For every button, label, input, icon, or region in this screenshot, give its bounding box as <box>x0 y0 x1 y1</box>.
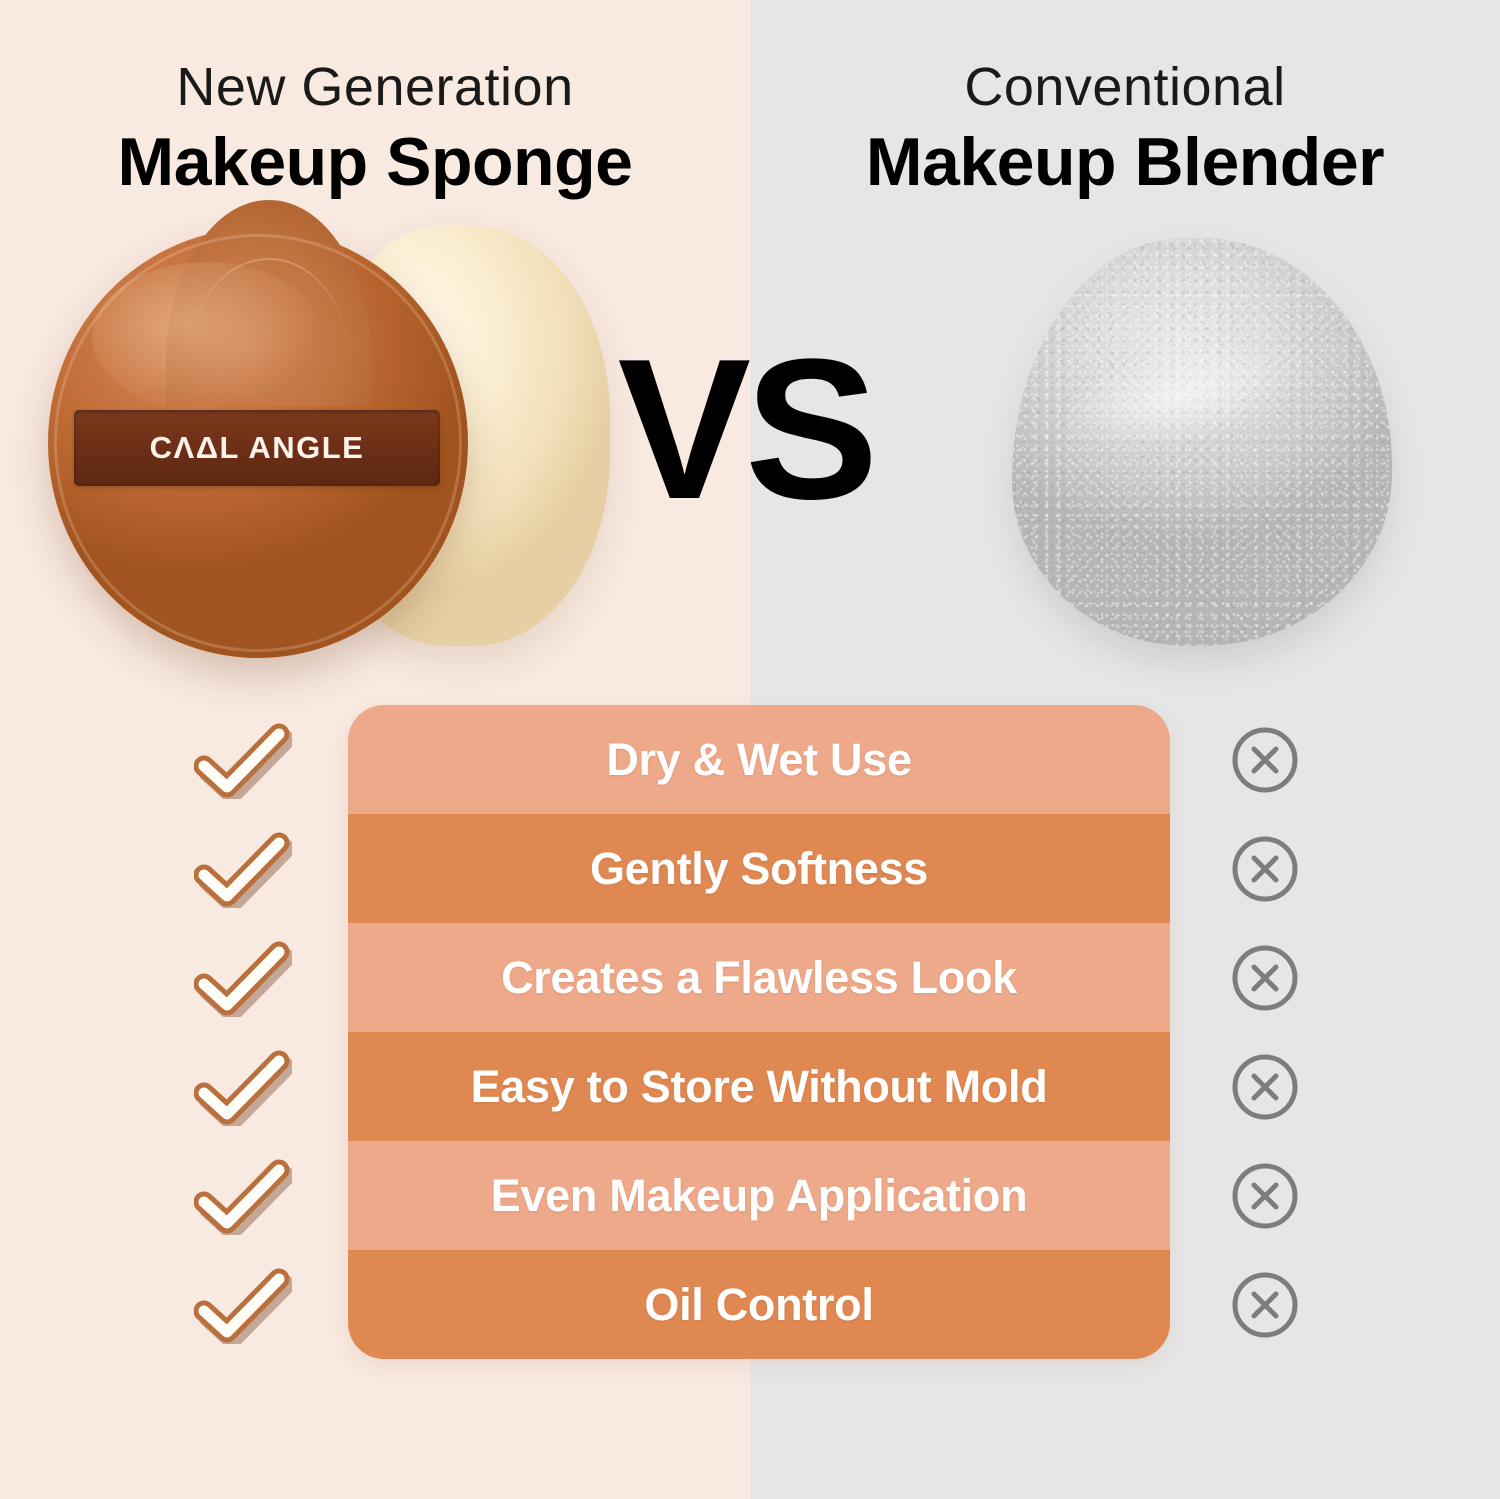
check-icon <box>194 1266 292 1344</box>
check-icon <box>194 939 292 1017</box>
right-heading-title: Makeup Blender <box>790 123 1460 201</box>
feature-row: Even Makeup Application <box>348 1141 1170 1250</box>
feature-row: Gently Softness <box>348 814 1170 923</box>
check-cell <box>168 705 318 814</box>
check-cell <box>168 1032 318 1141</box>
circle-x-icon <box>1230 1161 1300 1231</box>
cross-cell <box>1200 923 1330 1032</box>
feature-row: Easy to Store Without Mold <box>348 1032 1170 1141</box>
check-cell <box>168 1250 318 1359</box>
feature-row: Dry & Wet Use <box>348 705 1170 814</box>
right-column-heading: Conventional Makeup Blender <box>790 58 1460 202</box>
check-icon <box>194 721 292 799</box>
feature-label: Dry & Wet Use <box>606 734 911 786</box>
feature-label: Even Makeup Application <box>491 1170 1028 1222</box>
orange-powder-puff-shape: CΛΔL ANGLE <box>48 228 468 658</box>
check-icon <box>194 830 292 908</box>
brand-label: CΛΔL ANGLE <box>150 430 365 466</box>
feature-label: Gently Softness <box>590 843 928 895</box>
check-cell <box>168 1141 318 1250</box>
circle-x-icon <box>1230 834 1300 904</box>
right-cross-column <box>1200 705 1330 1359</box>
check-icon <box>194 1157 292 1235</box>
left-product-image: CΛΔL ANGLE <box>40 218 610 678</box>
left-column-heading: New Generation Makeup Sponge <box>30 58 720 202</box>
feature-label: Oil Control <box>644 1279 873 1331</box>
circle-x-icon <box>1230 1052 1300 1122</box>
cross-cell <box>1200 814 1330 923</box>
circle-x-icon <box>1230 1270 1300 1340</box>
product-comparison-infographic: New Generation Makeup Sponge Conventiona… <box>0 0 1500 1499</box>
feature-row: Creates a Flawless Look <box>348 923 1170 1032</box>
right-product-image <box>1012 238 1392 646</box>
cross-cell <box>1200 1141 1330 1250</box>
versus-label: VS <box>560 330 930 530</box>
check-cell <box>168 923 318 1032</box>
check-icon <box>194 1048 292 1126</box>
feature-row: Oil Control <box>348 1250 1170 1359</box>
gray-beauty-blender-shape <box>1012 238 1392 646</box>
circle-x-icon <box>1230 943 1300 1013</box>
feature-label: Easy to Store Without Mold <box>471 1061 1048 1113</box>
cross-cell <box>1200 705 1330 814</box>
left-heading-title: Makeup Sponge <box>30 123 720 201</box>
feature-comparison-panel: Dry & Wet UseGently SoftnessCreates a Fl… <box>348 705 1170 1359</box>
check-cell <box>168 814 318 923</box>
feature-label: Creates a Flawless Look <box>501 952 1017 1004</box>
puff-highlight <box>92 262 322 412</box>
cross-cell <box>1200 1250 1330 1359</box>
puff-brand-band: CΛΔL ANGLE <box>74 410 440 486</box>
left-heading-eyebrow: New Generation <box>30 58 720 117</box>
right-heading-eyebrow: Conventional <box>790 58 1460 117</box>
circle-x-icon <box>1230 725 1300 795</box>
left-check-column <box>168 705 318 1359</box>
cross-cell <box>1200 1032 1330 1141</box>
